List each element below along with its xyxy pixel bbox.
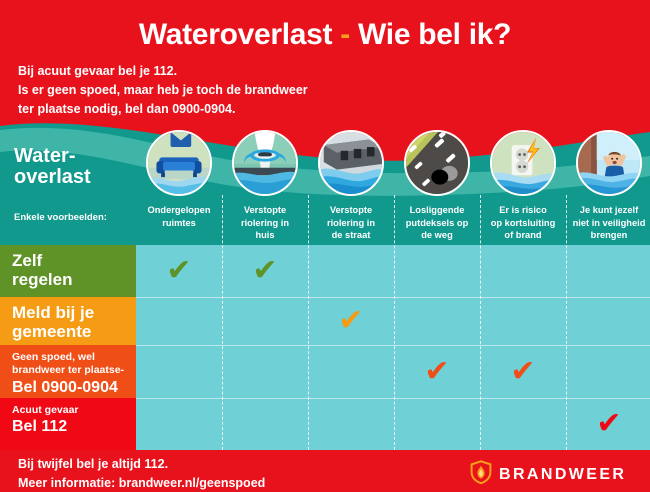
intro-text: Bij acuut gevaar bel je 112. Is er geen … [18, 62, 488, 119]
grid-column-divider [394, 195, 395, 450]
grid-column-divider [480, 195, 481, 450]
column-header-6: Je kunt jezelfniet in veiligheidbrengen [566, 204, 650, 242]
row-label-main: Bel 0900-0904 [12, 379, 136, 397]
column-header-line-2: riolering in [222, 217, 308, 230]
column-header-line-3: de straat [308, 229, 394, 242]
brandweer-wordmark: BRANDWEER [499, 466, 626, 484]
row-label-main-2: gemeente [12, 322, 136, 341]
row-label-1: Zelfregelen [0, 245, 136, 297]
row-label-4: Acuut gevaarBel 112 [0, 398, 136, 450]
column-header-line-1: Losliggende [394, 204, 480, 217]
column-header-line-3: huis [222, 229, 308, 242]
intro-line-2: Is er geen spoed, maar heb je toch de br… [18, 81, 488, 100]
footer-line-1: Bij twijfel bel je altijd 112. [18, 455, 265, 474]
row-label-note: Geen spoed, wel brandweer ter plaatse- [12, 351, 136, 378]
checkmark-cell: ✔ [308, 297, 394, 345]
overflowing-toilet-icon [232, 130, 298, 196]
brandweer-logo: BRANDWEER [468, 459, 626, 490]
column-header-line-1: Je kunt jezelf [566, 204, 650, 217]
checkmark-cell: ✔ [394, 345, 480, 398]
footer-line-2: Meer informatie: brandweer.nl/geenspoed [18, 474, 265, 492]
title-dash: - [340, 18, 350, 51]
footer-text: Bij twijfel bel je altijd 112. Meer info… [18, 455, 265, 492]
column-header-line-2: riolering in [308, 217, 394, 230]
column-header-line-2: niet in veiligheid [566, 217, 650, 230]
section-heading: Water- overlast [14, 146, 144, 188]
section-heading-line-1: Water- [14, 146, 144, 167]
column-header-line-1: Er is risico [480, 204, 566, 217]
check-icon: ✔ [596, 409, 621, 439]
column-header-2: Verstopteriolering inhuis [222, 204, 308, 242]
infographic-poster: Wateroverlast - Wie bel ik? Bij acuut ge… [0, 0, 650, 492]
row-label-2: Meld bij jegemeente [0, 297, 136, 345]
loose-manhole-cover-icon [404, 130, 470, 196]
check-icon: ✔ [338, 306, 363, 336]
grid-row-divider [136, 345, 650, 346]
intro-line-3: ter plaatse nodig, bel dan 0900-0904. [18, 100, 488, 119]
row-label-3: Geen spoed, wel brandweer ter plaatse-Be… [0, 345, 136, 398]
column-header-3: Verstopteriolering inde straat [308, 204, 394, 242]
advice-grid: ✔✔✔✔✔✔ [136, 245, 650, 450]
row-label-main: Meld bij je [12, 303, 136, 322]
column-header-line-3: de weg [394, 229, 480, 242]
check-icon: ✔ [510, 357, 535, 387]
row-label-note: Acuut gevaar [12, 404, 136, 417]
checkmark-cell: ✔ [566, 398, 650, 450]
title-sub: Wie bel ik? [358, 18, 511, 51]
column-header-line-1: Ondergelopen [136, 204, 222, 217]
grid-column-divider [222, 195, 223, 450]
examples-label: Enkele voorbeelden: [14, 212, 139, 223]
checkmark-cell: ✔ [136, 245, 222, 297]
row-label-main: Bel 112 [12, 418, 136, 436]
check-icon: ✔ [166, 256, 191, 286]
check-icon: ✔ [424, 357, 449, 387]
checkmark-cell: ✔ [222, 245, 308, 297]
check-icon: ✔ [252, 256, 277, 286]
column-header-5: Er is risicoop kortsluitingof brand [480, 204, 566, 242]
checkmark-cell: ✔ [480, 345, 566, 398]
column-header-line-2: ruimtes [136, 217, 222, 230]
column-header-line-3: of brand [480, 229, 566, 242]
title-main: Wateroverlast [139, 18, 332, 51]
section-heading-line-2: overlast [14, 167, 144, 188]
drowning-person-icon [576, 130, 642, 196]
column-header-4: Losliggendeputdeksels opde weg [394, 204, 480, 242]
flooded-room-sofa-icon [146, 130, 212, 196]
flooded-street-sewer-icon [318, 130, 384, 196]
column-header-line-3: brengen [566, 229, 650, 242]
column-header-line-1: Verstopte [222, 204, 308, 217]
electrical-socket-spark-icon [490, 130, 556, 196]
row-label-main: Zelf [12, 251, 136, 270]
column-header-1: Ondergelopenruimtes [136, 204, 222, 229]
intro-line-1: Bij acuut gevaar bel je 112. [18, 62, 488, 81]
brandweer-shield-flame-icon [468, 459, 494, 490]
column-header-line-2: op kortsluiting [480, 217, 566, 230]
column-header-line-1: Verstopte [308, 204, 394, 217]
page-title: Wateroverlast - Wie bel ik? [0, 18, 650, 52]
column-header-line-2: putdeksels op [394, 217, 480, 230]
row-label-main-2: regelen [12, 270, 136, 289]
